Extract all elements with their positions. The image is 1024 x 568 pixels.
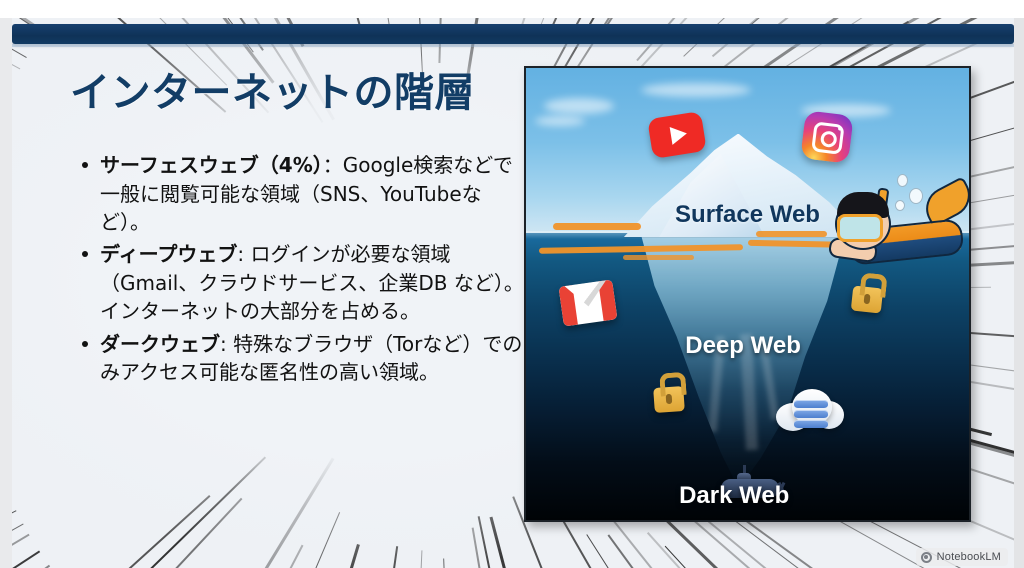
label-surface-web: Surface Web <box>675 201 820 229</box>
wave-streak <box>756 231 827 237</box>
bullet-term: ディープウェブ <box>100 242 237 266</box>
bullet-separator: : <box>220 332 233 356</box>
iceberg-illustration: Surface Web Deep Web Dark Web <box>524 66 971 522</box>
label-dark-web: Dark Web <box>679 482 789 510</box>
screenshot-stage: インターネットの階層 サーフェスウェブ（4%）：Google検索などで一般に閲覧… <box>0 0 1024 568</box>
bullet-separator: ： <box>323 153 343 177</box>
gmail-icon <box>559 279 618 326</box>
list-item: サーフェスウェブ（4%）：Google検索などで一般に閲覧可能な領域（SNS、Y… <box>82 151 530 236</box>
bullet-separator: : <box>237 242 250 266</box>
page-title: インターネットの階層 <box>70 70 530 117</box>
diver-figure <box>835 176 971 296</box>
top-gutter <box>0 0 1024 18</box>
bullet-term: ダークウェブ <box>100 332 220 356</box>
label-deep-web: Deep Web <box>685 332 801 360</box>
list-item: ディープウェブ: ログインが必要な領域（Gmail、クラウドサービス、企業DB … <box>82 240 530 325</box>
slide-text-column: インターネットの階層 サーフェスウェブ（4%）：Google検索などで一般に閲覧… <box>60 70 530 390</box>
cloud-shape <box>535 116 585 126</box>
presentation-slide: インターネットの階層 サーフェスウェブ（4%）：Google検索などで一般に閲覧… <box>12 18 1014 568</box>
padlock-icon <box>654 386 686 413</box>
notebooklm-watermark: NotebookLM <box>916 548 1008 566</box>
instagram-icon <box>800 110 853 163</box>
wave-streak <box>623 255 694 260</box>
list-item: ダークウェブ: 特殊なブラウザ（Torなど）でのみアクセス可能な匿名性の高い領域… <box>82 330 530 387</box>
watermark-label: NotebookLM <box>937 551 1001 563</box>
slide-header-band <box>12 24 1014 44</box>
cloud-database-icon <box>774 387 846 433</box>
right-gutter <box>1014 0 1024 568</box>
wave-streak <box>553 223 642 230</box>
cloud-shape <box>641 83 751 97</box>
cloud-shape <box>544 98 614 114</box>
left-gutter <box>0 0 12 568</box>
notebooklm-logo-icon <box>921 552 932 563</box>
bullet-term: サーフェスウェブ（4%） <box>100 153 323 177</box>
diving-mask-icon <box>837 214 883 242</box>
bullet-list: サーフェスウェブ（4%）：Google検索などで一般に閲覧可能な領域（SNS、Y… <box>60 151 530 386</box>
